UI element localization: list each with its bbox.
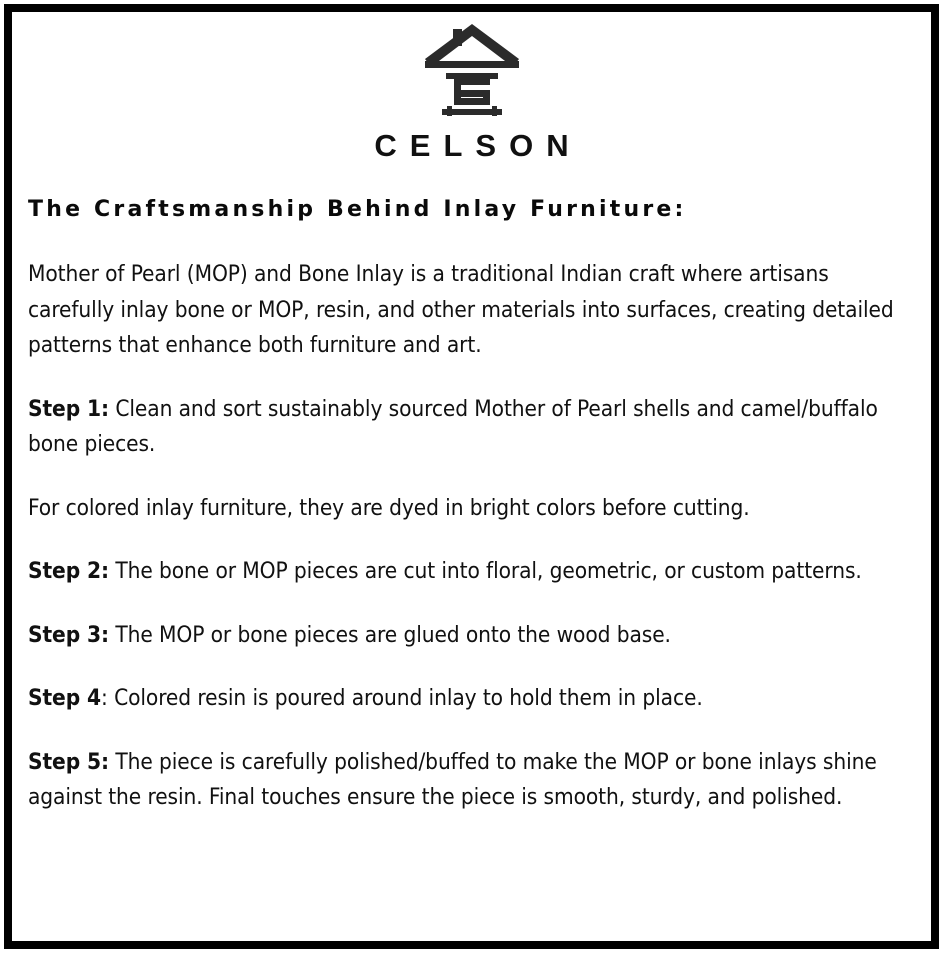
step-2-text: The bone or MOP pieces are cut into flor… bbox=[109, 558, 862, 584]
brand-name: CELSON bbox=[20, 130, 923, 161]
document-body: The Craftsmanship Behind Inlay Furniture… bbox=[20, 197, 923, 816]
dye-note-paragraph: For colored inlay furniture, they are dy… bbox=[28, 491, 915, 527]
poster-frame: CELSON The Craftsmanship Behind Inlay Fu… bbox=[4, 4, 939, 949]
step-2-label: Step 2: bbox=[28, 558, 109, 584]
intro-paragraph: Mother of Pearl (MOP) and Bone Inlay is … bbox=[28, 257, 915, 364]
poster-page: CELSON The Craftsmanship Behind Inlay Fu… bbox=[0, 0, 943, 953]
step-3-text: The MOP or bone pieces are glued onto th… bbox=[109, 622, 671, 648]
step-2-paragraph: Step 2: The bone or MOP pieces are cut i… bbox=[28, 554, 915, 590]
step-5-paragraph: Step 5: The piece is carefully polished/… bbox=[28, 745, 915, 816]
page-title: The Craftsmanship Behind Inlay Furniture… bbox=[28, 197, 915, 223]
step-4-colon: : bbox=[101, 685, 108, 711]
step-3-paragraph: Step 3: The MOP or bone pieces are glued… bbox=[28, 618, 915, 654]
step-5-text: The piece is carefully polished/buffed t… bbox=[28, 749, 877, 811]
step-3-label: Step 3: bbox=[28, 622, 109, 648]
step-1-text: Clean and sort sustainably sourced Mothe… bbox=[28, 396, 878, 458]
house-monogram-logo-icon bbox=[420, 18, 524, 122]
dye-note-text: For colored inlay furniture, they are dy… bbox=[28, 495, 750, 521]
step-1-paragraph: Step 1: Clean and sort sustainably sourc… bbox=[28, 392, 915, 463]
brand-header: CELSON bbox=[20, 16, 923, 161]
step-4-paragraph: Step 4: Colored resin is poured around i… bbox=[28, 681, 915, 717]
step-4-label: Step 4 bbox=[28, 685, 101, 711]
step-1-label: Step 1: bbox=[28, 396, 109, 422]
step-5-label: Step 5: bbox=[28, 749, 109, 775]
step-4-text: Colored resin is poured around inlay to … bbox=[108, 685, 703, 711]
intro-text: Mother of Pearl (MOP) and Bone Inlay is … bbox=[28, 261, 894, 358]
